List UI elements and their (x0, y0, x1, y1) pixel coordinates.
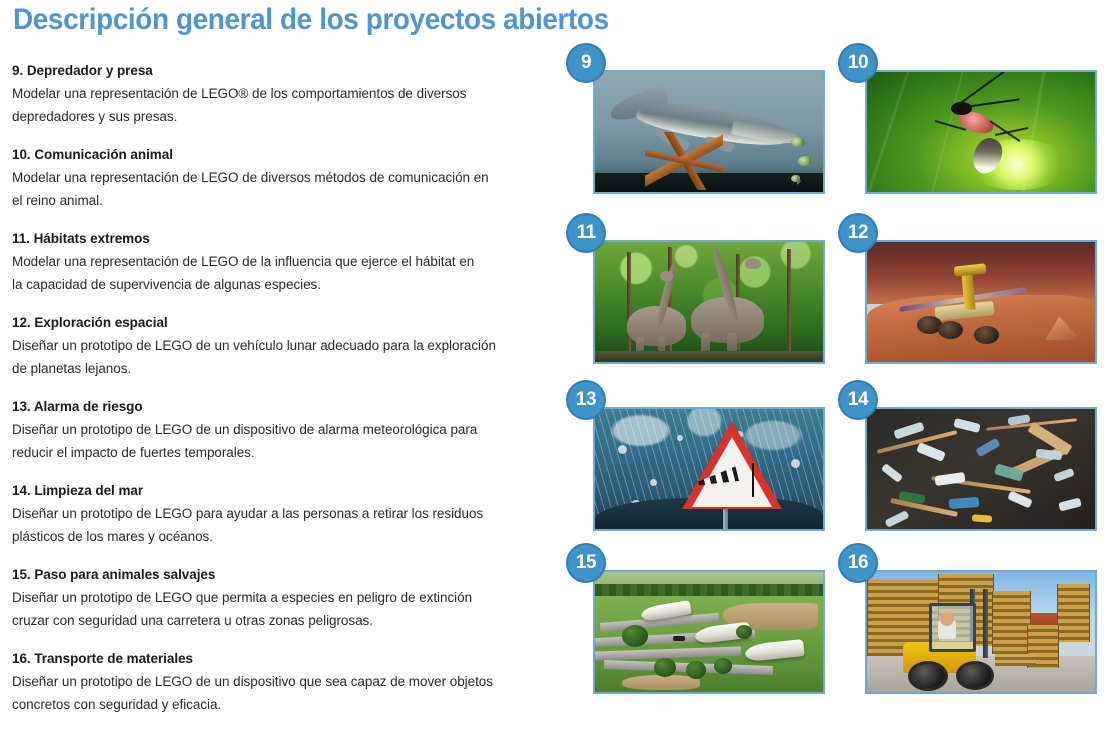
project-number-badge: 16 (840, 545, 876, 581)
project-number-badge: 11 (568, 215, 604, 251)
project-description-line: la capacidad de supervivencia de algunas… (12, 273, 552, 296)
project-description-line: reducir el impacto de fuertes temporales… (12, 441, 552, 464)
project-heading: 11. Hábitats extremos (12, 228, 552, 250)
project-entry-13: 13. Alarma de riesgo Diseñar un prototip… (12, 396, 552, 464)
project-image-cell-14: 14 (840, 382, 1098, 547)
project-description-line: de planetas lejanos. (12, 357, 552, 380)
firefly-on-leaf-photo (865, 70, 1097, 194)
project-description-line: cruzar con seguridad una carretera u otr… (12, 609, 552, 632)
wildlife-crossing-photo (593, 570, 825, 694)
project-description-list: 9. Depredador y presa Modelar una repres… (12, 60, 552, 732)
project-description-line: Diseñar un prototipo de LEGO de un dispo… (12, 670, 552, 693)
project-image-cell-9: 9 (568, 45, 826, 210)
project-image-cell-12: 12 (840, 215, 1098, 380)
project-entry-12: 12. Exploración espacial Diseñar un prot… (12, 312, 552, 380)
project-number-badge: 15 (568, 545, 604, 581)
project-heading: 16. Transporte de materiales (12, 648, 552, 670)
project-description-line: concretos con seguridad y eficacia. (12, 693, 552, 716)
project-description-line: Modelar una representación de LEGO® de l… (12, 82, 552, 105)
project-heading: 13. Alarma de riesgo (12, 396, 552, 418)
project-heading: 12. Exploración espacial (12, 312, 552, 334)
crocodile-underwater-photo (593, 70, 825, 194)
car-on-road (673, 636, 685, 641)
dinosaurs-in-forest-photo (593, 240, 825, 364)
project-description-line: el reino animal. (12, 189, 552, 212)
project-heading: 10. Comunicación animal (12, 144, 552, 166)
project-description-line: Diseñar un prototipo de LEGO de un vehíc… (12, 334, 552, 357)
project-entry-15: 15. Paso para animales salvajes Diseñar … (12, 564, 552, 632)
project-description-line: Diseñar un prototipo de LEGO que permita… (12, 586, 552, 609)
project-image-cell-10: 10 (840, 45, 1098, 210)
project-image-cell-13: 13 (568, 382, 826, 547)
project-number-badge: 9 (568, 45, 604, 81)
project-image-grid: 9 10 (568, 45, 1113, 710)
project-description-line: Diseñar un prototipo de LEGO para ayudar… (12, 502, 552, 525)
page-title: Descripción general de los proyectos abi… (13, 2, 609, 38)
project-heading: 15. Paso para animales salvajes (12, 564, 552, 586)
ocean-plastic-debris-photo (865, 407, 1097, 531)
project-number-badge: 10 (840, 45, 876, 81)
storm-warning-sign-photo (593, 407, 825, 531)
project-description-line: plásticos de los mares y océanos. (12, 525, 552, 548)
project-number-badge: 14 (840, 382, 876, 418)
project-image-cell-15: 15 (568, 545, 826, 710)
project-entry-14: 14. Limpieza del mar Diseñar un prototip… (12, 480, 552, 548)
mars-rover-photo (865, 240, 1097, 364)
project-description-line: Modelar una representación de LEGO de di… (12, 166, 552, 189)
project-entry-10: 10. Comunicación animal Modelar una repr… (12, 144, 552, 212)
project-description-line: depredadores y sus presas. (12, 105, 552, 128)
project-image-cell-16: 16 (840, 545, 1098, 710)
project-entry-16: 16. Transporte de materiales Diseñar un … (12, 648, 552, 716)
project-entry-9: 9. Depredador y presa Modelar una repres… (12, 60, 552, 128)
project-heading: 9. Depredador y presa (12, 60, 552, 82)
project-description-line: Diseñar un prototipo de LEGO de un dispo… (12, 418, 552, 441)
project-description-line: Modelar una representación de LEGO de la… (12, 250, 552, 273)
forklift-pallets-photo (865, 570, 1097, 694)
project-heading: 14. Limpieza del mar (12, 480, 552, 502)
project-number-badge: 13 (568, 382, 604, 418)
project-image-cell-11: 11 (568, 215, 826, 380)
project-number-badge: 12 (840, 215, 876, 251)
project-entry-11: 11. Hábitats extremos Modelar una repres… (12, 228, 552, 296)
